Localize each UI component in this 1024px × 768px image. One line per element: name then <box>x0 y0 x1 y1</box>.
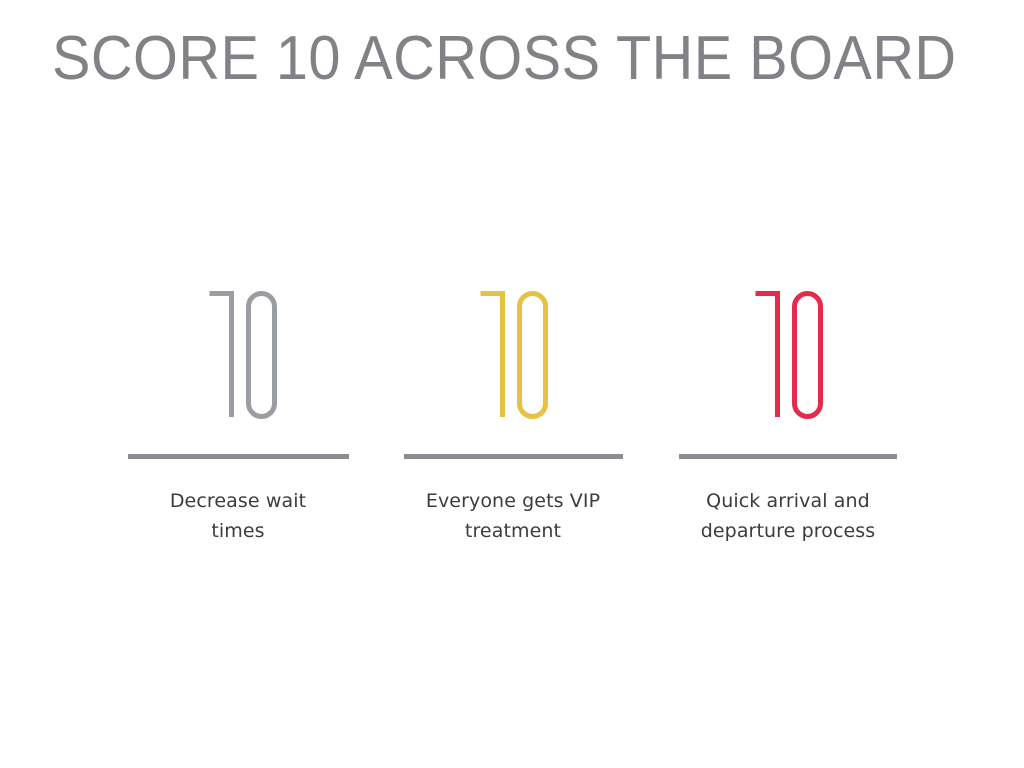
numeral-10-yellow <box>476 270 550 420</box>
stat-column-1: Decrease wait times <box>108 270 368 546</box>
caption-line-1: Quick arrival and <box>706 490 870 512</box>
numeral-10-gray <box>205 270 279 420</box>
column-divider-1 <box>128 454 349 459</box>
numeral-10-red <box>751 270 825 420</box>
caption-line-1: Everyone gets VIP <box>426 490 600 512</box>
caption-line-2: times <box>211 520 264 542</box>
numeral-10-yellow-icon <box>476 288 550 420</box>
numeral-10-gray-icon <box>205 288 279 420</box>
stat-column-2: Everyone gets VIP treatment <box>383 270 643 546</box>
slide-canvas: SCORE 10 ACROSS THE BOARD Decrease wait … <box>0 0 1024 768</box>
stat-columns: Decrease wait times Everyone gets VIP tr… <box>108 270 918 546</box>
caption-line-1: Decrease wait <box>170 490 306 512</box>
caption-line-2: treatment <box>465 520 561 542</box>
column-caption-1: Decrease wait times <box>123 486 353 546</box>
numeral-10-red-icon <box>751 288 825 420</box>
column-caption-2: Everyone gets VIP treatment <box>398 486 628 546</box>
column-divider-3 <box>679 454 897 459</box>
stat-column-3: Quick arrival and departure process <box>658 270 918 546</box>
caption-line-2: departure process <box>701 520 876 542</box>
column-divider-2 <box>404 454 623 459</box>
column-caption-3: Quick arrival and departure process <box>673 486 903 546</box>
page-title: SCORE 10 ACROSS THE BOARD <box>52 22 926 96</box>
